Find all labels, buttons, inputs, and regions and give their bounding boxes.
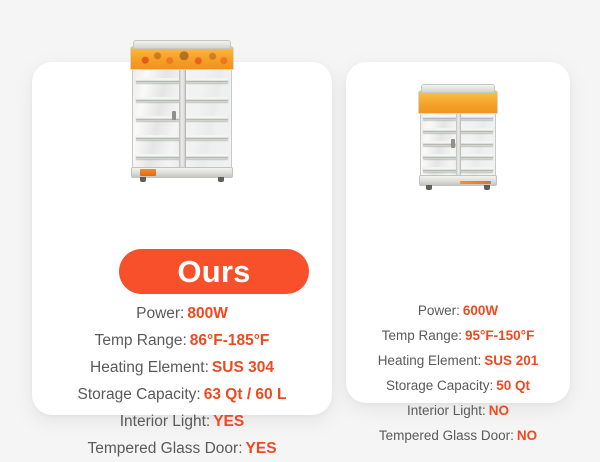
spec-value: NO [489,403,509,418]
spec-value: 800W [187,305,228,322]
spec-label: Temp Range: [382,328,462,343]
spec-value: YES [246,440,277,457]
control-panel [140,169,156,176]
spec-label: Storage Capacity: [78,386,201,403]
door-handle-icon [451,139,455,148]
top-cap [421,84,496,93]
top-cap [133,40,231,49]
foot [484,185,490,190]
spec-row: Interior Light:YES [32,408,332,435]
spec-label: Power: [418,303,460,318]
spec-row: Heating Element:SUS 304 [32,354,332,381]
spec-label: Tempered Glass Door: [379,428,514,443]
comparison-stage: Ours Power:800W Temp Range:86°F-185°F He… [0,0,600,450]
spec-label: Temp Range: [95,332,187,349]
door-handle-icon [172,111,176,120]
spec-row: Temp Range:86°F-185°F [32,327,332,354]
spec-label: Tempered Glass Door: [87,440,242,457]
foot [140,177,146,182]
cabinet-body [132,56,232,176]
spec-row: Storage Capacity:63 Qt / 60 L [32,381,332,408]
comparison-card-ours: Ours Power:800W Temp Range:86°F-185°F He… [32,62,332,415]
spec-row: Power:600W [346,298,570,323]
spec-label: Interior Light: [120,413,210,430]
control-panel [460,181,492,184]
comparison-card-others: Others Power:600W Temp Range:95°F-150°F … [346,62,570,403]
spec-value: 600W [463,303,498,318]
top-signage-band [418,90,497,114]
spec-value: 86°F-185°F [190,332,270,349]
spec-value: SUS 201 [484,353,538,368]
spec-row: Interior Light:NO [346,398,570,423]
spec-label: Power: [136,305,184,322]
spec-list-others: Power:600W Temp Range:95°F-150°F Heating… [346,298,570,448]
display-warmer-icon [420,78,496,190]
product-image-others [346,74,570,190]
spec-label: Heating Element: [90,359,209,376]
spec-row: Tempered Glass Door:YES [32,435,332,462]
spec-row: Heating Element:SUS 201 [346,348,570,373]
spec-row: Power:800W [32,300,332,327]
spec-label: Interior Light: [407,403,486,418]
spec-value: 63 Qt / 60 L [204,386,287,403]
spec-row: Storage Capacity:50 Qt [346,373,570,398]
spec-value: 50 Qt [496,378,530,393]
top-signage-band [130,46,234,70]
spec-value: YES [213,413,244,430]
spec-label: Heating Element: [378,353,482,368]
foot [218,177,224,182]
spec-value: 95°F-150°F [465,328,534,343]
spec-value: NO [517,428,537,443]
spec-row: Tempered Glass Door:NO [346,423,570,448]
center-post [179,57,186,175]
product-image-ours [32,30,332,182]
badge-ours: Ours [119,249,309,294]
spec-label: Storage Capacity: [386,378,493,393]
spec-row: Temp Range:95°F-150°F [346,323,570,348]
foot [426,185,432,190]
spec-value: SUS 304 [212,359,274,376]
spec-list-ours: Power:800W Temp Range:86°F-185°F Heating… [32,300,332,462]
display-warmer-icon [132,34,232,182]
